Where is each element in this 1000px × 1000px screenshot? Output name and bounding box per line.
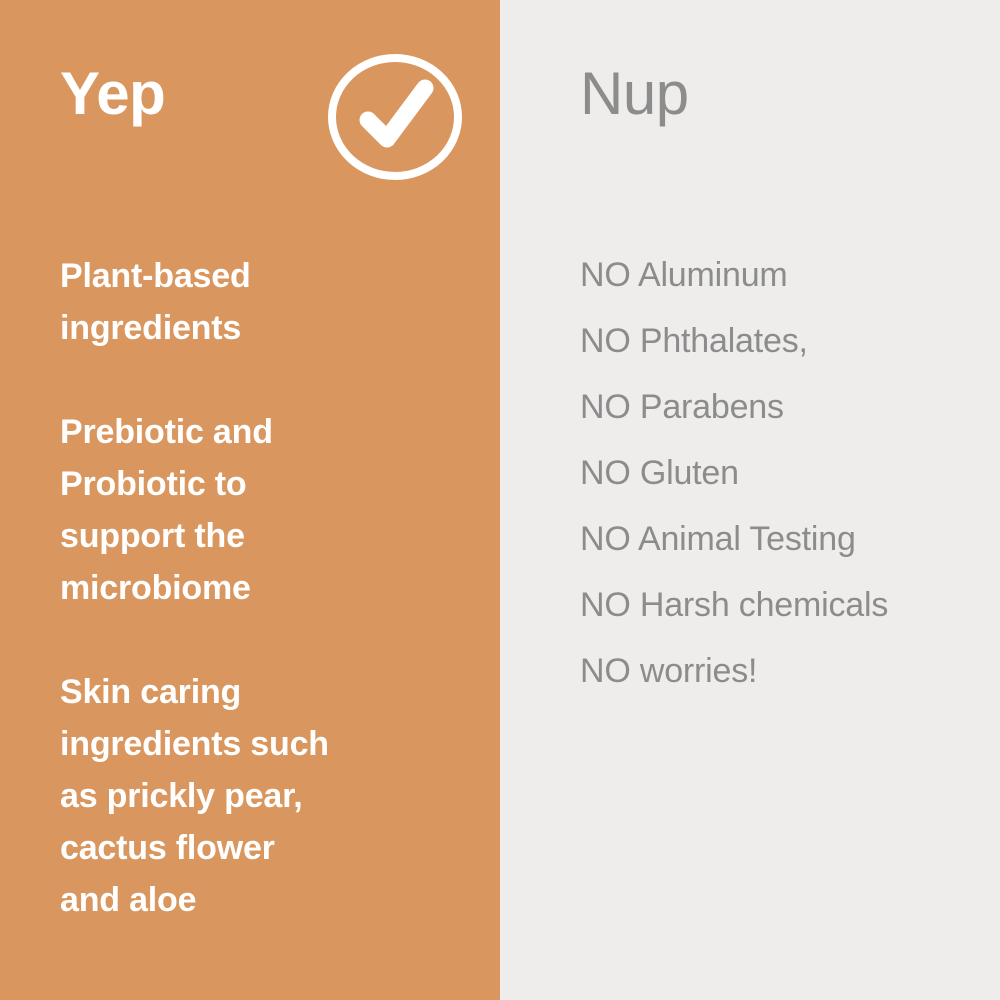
yep-benefit-line: Plant-based [60,250,460,302]
yep-benefit-line: cactus flower [60,822,460,874]
nup-exclusion-item: NO Animal Testing [580,506,990,572]
nup-exclusion-item: NO worries! [580,638,990,704]
yep-benefit-line: support the [60,510,460,562]
nup-exclusion-item: NO Harsh chemicals [580,572,990,638]
nup-title: Nup [580,64,689,124]
nup-exclusions-list: NO Aluminum NO Phthalates, NO Parabens N… [580,242,990,704]
yep-benefit-line: Prebiotic and [60,406,460,458]
yep-benefit-line: and aloe [60,874,460,926]
yep-benefit-line: Probiotic to [60,458,460,510]
yep-benefit-item: Prebiotic and Probiotic to support the m… [60,406,460,614]
yep-panel-header: Yep [0,0,500,230]
nup-exclusion-item: NO Aluminum [580,242,990,308]
yep-benefit-item: Skin caring ingredients such as prickly … [60,666,460,926]
check-circle-icon [324,50,466,184]
yep-title: Yep [60,64,165,124]
nup-panel-header: Nup [500,0,1000,230]
yep-benefit-line: Skin caring [60,666,460,718]
nup-exclusion-item: NO Phthalates, [580,308,990,374]
yep-benefit-line: ingredients [60,302,460,354]
nup-panel: Nup NO Aluminum NO Phthalates, NO Parabe… [500,0,1000,1000]
yep-benefit-line: microbiome [60,562,460,614]
comparison-infographic: Yep Plant-based ingredients Prebiotic an… [0,0,1000,1000]
yep-benefit-item: Plant-based ingredients [60,250,460,354]
yep-benefit-line: ingredients such [60,718,460,770]
yep-benefits-list: Plant-based ingredients Prebiotic and Pr… [60,250,460,926]
yep-panel: Yep Plant-based ingredients Prebiotic an… [0,0,500,1000]
yep-benefit-line: as prickly pear, [60,770,460,822]
nup-exclusion-item: NO Parabens [580,374,990,440]
nup-exclusion-item: NO Gluten [580,440,990,506]
